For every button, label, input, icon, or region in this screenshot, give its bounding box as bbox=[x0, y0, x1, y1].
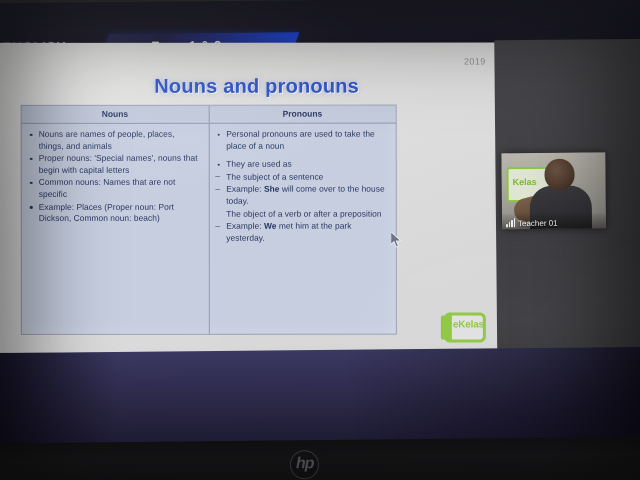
list-item: Nouns are names of people, places, thing… bbox=[27, 129, 202, 152]
list-item: The object of a verb or after a preposit… bbox=[214, 208, 389, 220]
slide-year: 2019 bbox=[464, 57, 486, 67]
mouse-cursor-icon bbox=[391, 232, 403, 249]
hp-logo-text: hp bbox=[296, 453, 314, 475]
nouns-pronouns-table: Nouns Pronouns Nouns are names of people… bbox=[21, 105, 397, 335]
list-item: The subject of a sentence bbox=[214, 171, 389, 183]
laptop-screen: ENGLISH Form 1 & 2 2019 Nouns and pronou… bbox=[0, 0, 640, 451]
pronouns-bullet-list: Personal pronouns are used to take the p… bbox=[214, 129, 389, 244]
desktop-shadow-right bbox=[345, 347, 640, 450]
nouns-bullet-list: Nouns are names of people, places, thing… bbox=[27, 129, 202, 225]
nouns-cell: Nouns are names of people, places, thing… bbox=[22, 124, 209, 334]
presentation-slide: 2019 Nouns and pronouns Nouns Pronouns N… bbox=[0, 42, 500, 352]
list-item: Personal pronouns are used to take the p… bbox=[214, 129, 389, 152]
column-header-nouns: Nouns bbox=[22, 106, 209, 123]
poster-wordmark: Kelas bbox=[513, 177, 537, 187]
video-participant-tile[interactable]: Kelas Teacher 01 bbox=[501, 152, 606, 229]
hp-logo: hp bbox=[290, 450, 319, 479]
signal-bars-icon bbox=[506, 217, 515, 227]
pronouns-cell: Personal pronouns are used to take the p… bbox=[208, 124, 396, 334]
ekelas-page-icon bbox=[441, 316, 452, 340]
laptop-bezel: hp bbox=[0, 436, 640, 480]
list-item: Example: We met him at the park yesterda… bbox=[214, 221, 389, 244]
photograph-of-laptop-screen: ENGLISH Form 1 & 2 2019 Nouns and pronou… bbox=[0, 0, 640, 480]
list-item: Example: Places (Proper noun: Port Dicks… bbox=[27, 201, 202, 224]
desktop-shadow-left bbox=[0, 352, 118, 451]
list-item: Common nouns: Names that are not specifi… bbox=[27, 177, 202, 200]
list-item: They are used as bbox=[214, 159, 389, 171]
list-item: Example: She will come over to the house… bbox=[214, 184, 389, 207]
list-item: Proper nouns: 'Special names', nouns tha… bbox=[27, 153, 202, 176]
desktop-bottom-area bbox=[0, 347, 640, 451]
video-name-bar: Teacher 01 bbox=[502, 213, 606, 229]
participant-name: Teacher 01 bbox=[518, 218, 558, 227]
slide-title: Nouns and pronouns bbox=[0, 75, 500, 98]
participant-head bbox=[544, 159, 574, 190]
ekelas-wordmark: eKelas bbox=[453, 320, 484, 331]
column-header-pronouns: Pronouns bbox=[208, 106, 396, 123]
table-header-row: Nouns Pronouns bbox=[22, 106, 396, 124]
table-body: Nouns are names of people, places, thing… bbox=[22, 124, 396, 334]
ekelas-name: Kelas bbox=[458, 320, 484, 331]
ekelas-logo: eKelas bbox=[444, 313, 486, 343]
